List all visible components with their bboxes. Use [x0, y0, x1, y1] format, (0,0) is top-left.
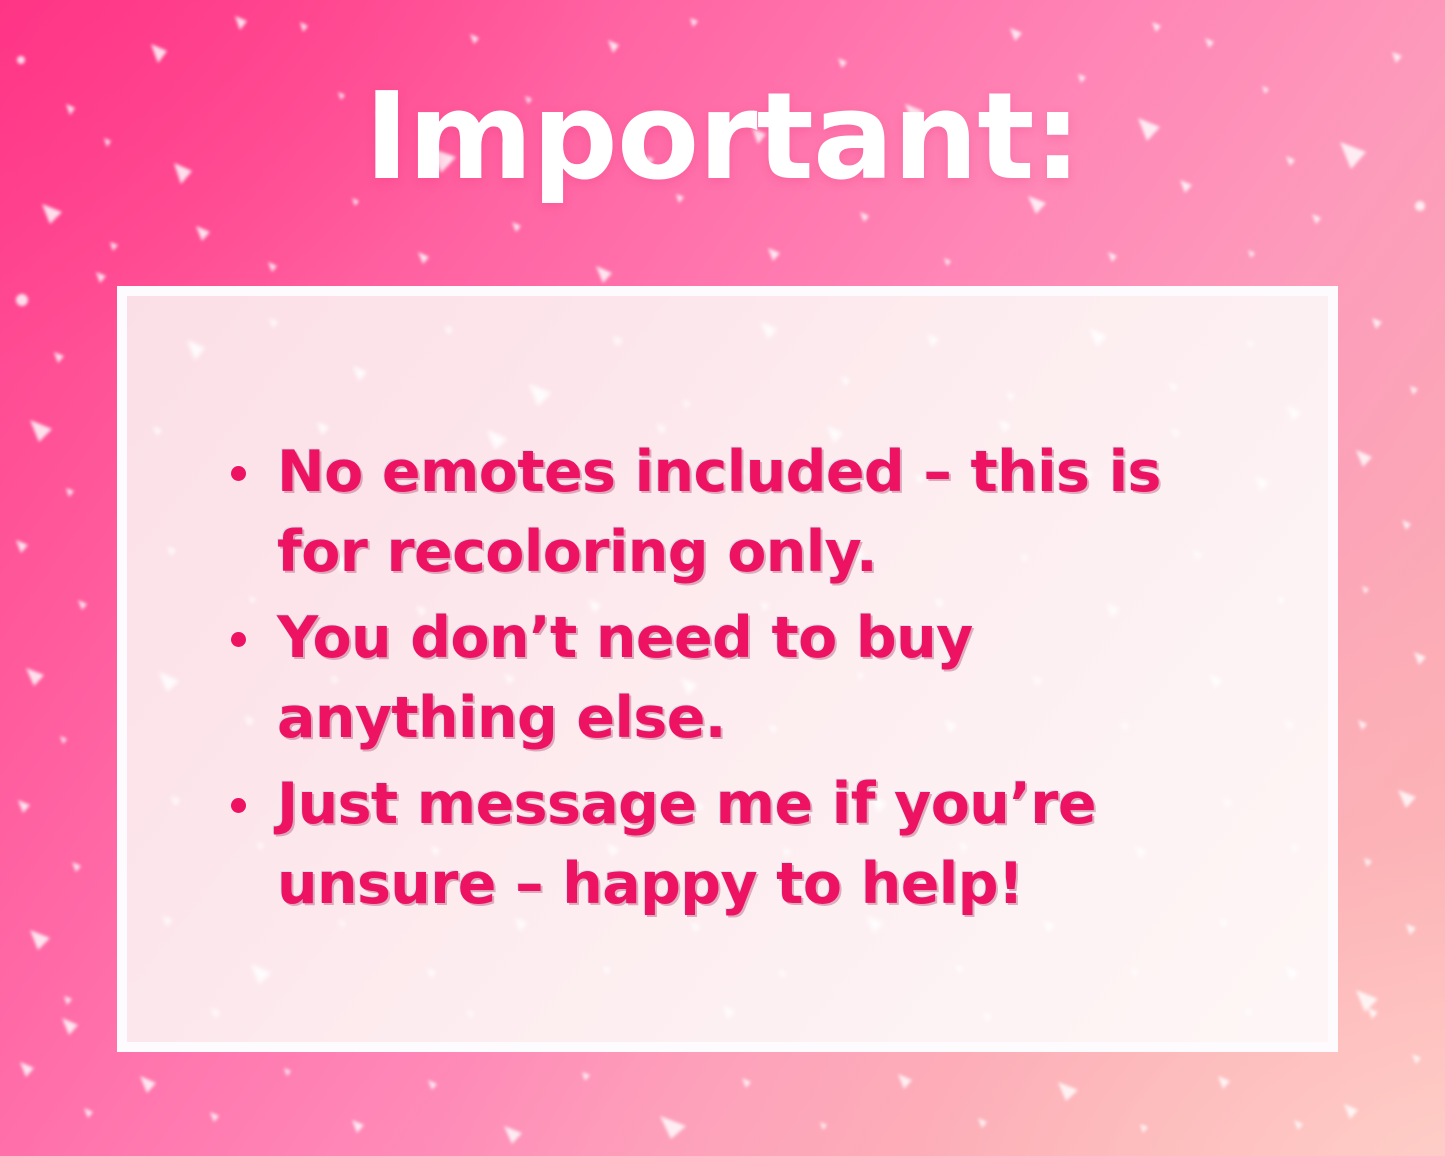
content-card: No emotes included – this is for recolor…: [117, 286, 1338, 1052]
list-item-label: You don’t need to buy anything else.: [277, 605, 973, 751]
list-item: You don’t need to buy anything else.: [231, 598, 1268, 758]
bullet-list: No emotes included – this is for recolor…: [231, 432, 1268, 930]
list-item-label: No emotes included – this is for recolor…: [277, 439, 1161, 585]
page-title: Important:: [0, 78, 1445, 198]
list-item: No emotes included – this is for recolor…: [231, 432, 1268, 592]
list-item-label: Just message me if you’re unsure – happy…: [277, 771, 1096, 917]
bullet-dot-icon: [231, 466, 246, 481]
slide-canvas: Important:: [0, 0, 1445, 1156]
bullet-dot-icon: [231, 632, 246, 647]
list-item: Just message me if you’re unsure – happy…: [231, 764, 1268, 924]
bullet-dot-icon: [231, 798, 246, 813]
